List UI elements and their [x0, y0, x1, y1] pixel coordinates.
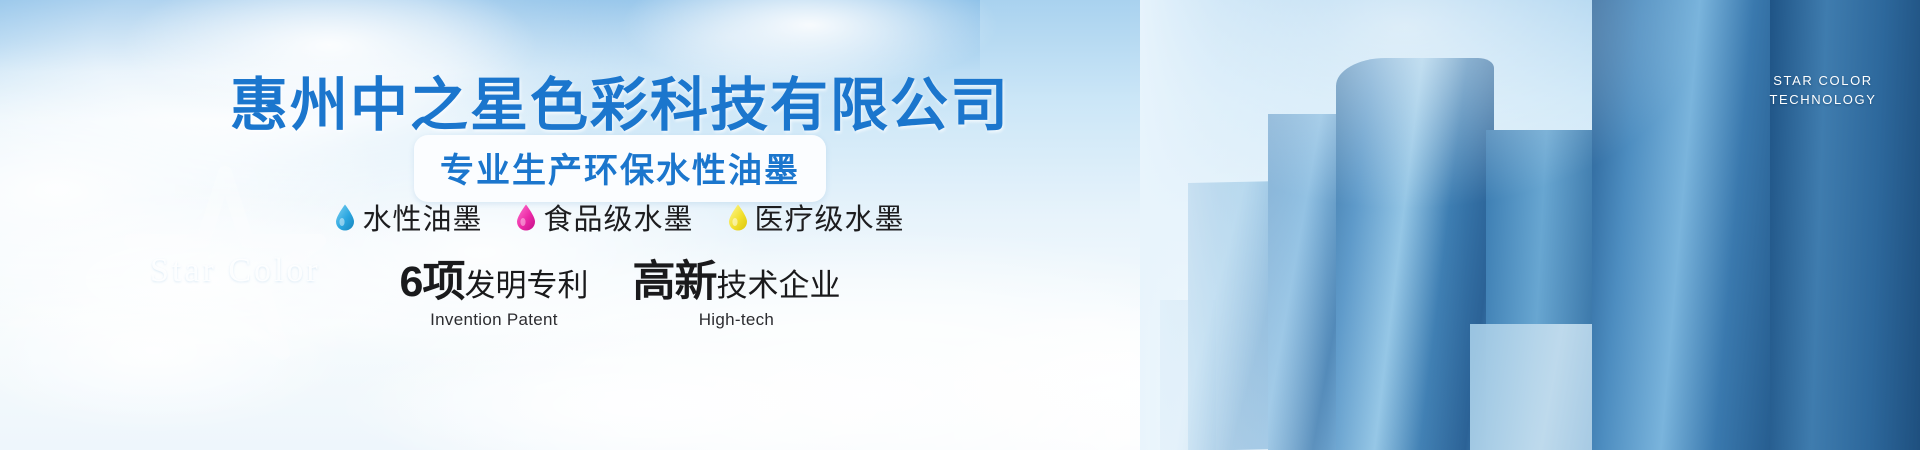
feature-item-2: 医疗级水墨 [728, 196, 905, 238]
feature-item-0: 水性油墨 [335, 196, 482, 238]
credential-highlight: 6项 [400, 258, 465, 306]
credential-rest: 技术企业 [716, 268, 840, 303]
water-drop-icon [335, 204, 355, 231]
credential-highlight: 高新 [632, 258, 716, 306]
feature-label: 食品级水墨 [543, 196, 693, 238]
water-drop-icon [516, 204, 536, 231]
credential-english: Invention Patent [400, 310, 589, 330]
building-shape [1268, 114, 1342, 450]
subtitle-badge: 专业生产环保水性油墨 [414, 135, 826, 202]
credential-rest: 发明专利 [464, 268, 588, 303]
water-drop-icon [728, 204, 748, 231]
banner-content: 惠州中之星色彩科技有限公司 专业生产环保水性油墨 水性油墨 [0, 0, 1240, 450]
credential-chinese: 高新技术企业 [632, 258, 840, 307]
credential-item-0: 6项发明专利 Invention Patent [400, 258, 589, 330]
feature-item-1: 食品级水墨 [516, 196, 693, 238]
credential-chinese: 6项发明专利 [400, 258, 589, 307]
product-feature-list: 水性油墨 食品级水墨 [0, 196, 1240, 238]
building-shape [1770, 0, 1920, 450]
subtitle-container: 专业生产环保水性油墨 [0, 135, 1240, 202]
company-name-headline: 惠州中之星色彩科技有限公司 [0, 58, 1240, 142]
company-hero-banner: Star Color STAR COLOR TECHNOLOGY 惠州中之星色彩… [0, 0, 1920, 450]
credential-item-1: 高新技术企业 High-tech [632, 258, 840, 330]
credential-list: 6项发明专利 Invention Patent 高新技术企业 High-tech [0, 258, 1240, 330]
credential-english: High-tech [632, 310, 840, 330]
skyscraper-photo: STAR COLOR TECHNOLOGY [1140, 0, 1920, 450]
feature-label: 医疗级水墨 [755, 196, 905, 238]
building-shape [1592, 0, 1778, 450]
feature-label: 水性油墨 [362, 196, 482, 238]
